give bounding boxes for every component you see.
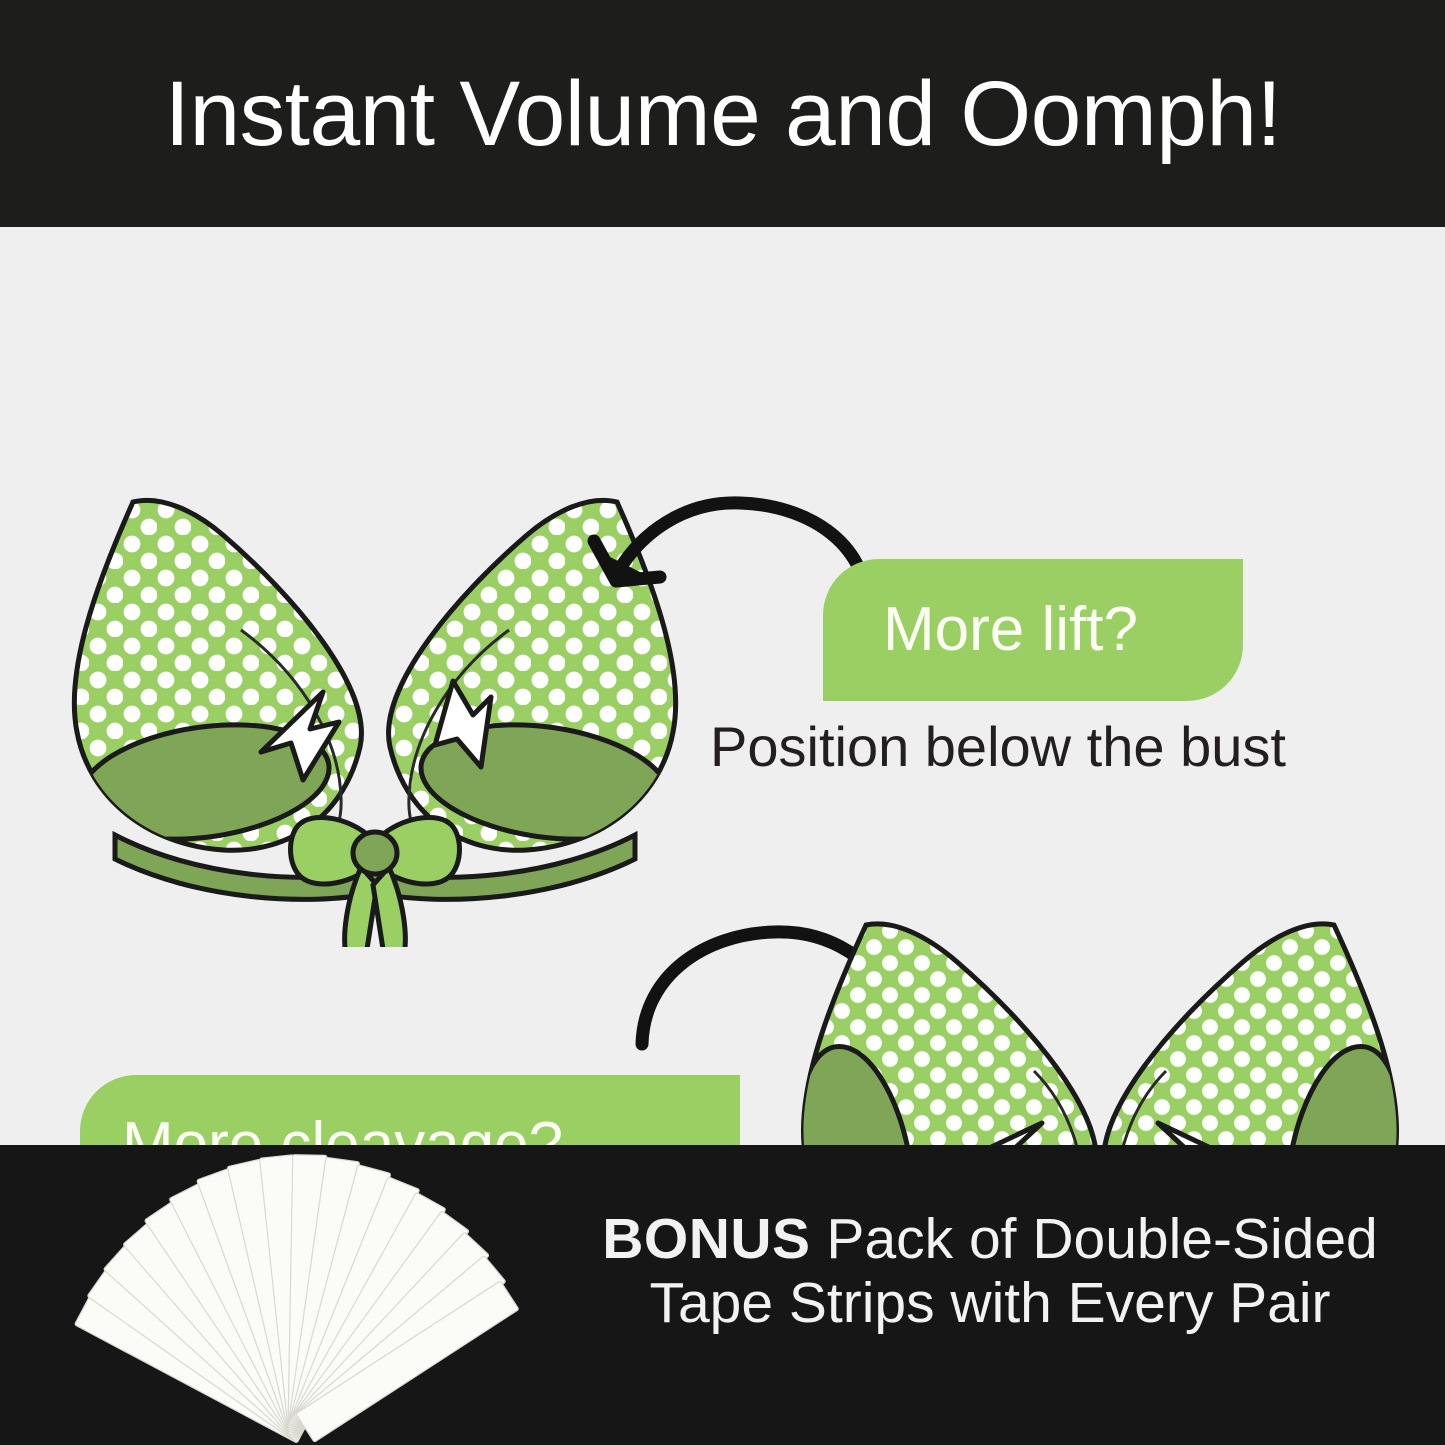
cursor-arrow-right [435, 681, 491, 767]
page-title: Instant Volume and Oomph! [164, 68, 1281, 160]
lift-pad-right [414, 710, 677, 854]
illustration-stage: More lift? Position below the bust More … [0, 227, 1445, 1145]
callout-more-lift-label: More lift? [883, 599, 1138, 661]
bra-cup-right [389, 500, 676, 850]
callout-more-lift[interactable]: More lift? [823, 559, 1243, 701]
bonus-caption-line-1: BONUS Pack of Double-Sided [560, 1208, 1420, 1272]
lift-pad-left [74, 710, 337, 854]
header-band: Instant Volume and Oomph! [0, 0, 1445, 227]
caption-position-below-the-bust: Position below the bust [710, 719, 1286, 775]
bra-band [115, 835, 635, 899]
bonus-line-1-rest: Pack of Double-Sided [811, 1207, 1378, 1271]
bra-illustration-lift [55, 467, 695, 947]
bra-cup-left [74, 500, 361, 850]
curved-arrow-to-cleavage-illustration [630, 912, 930, 1052]
bonus-caption-line-2: Tape Strips with Every Pair [560, 1272, 1420, 1336]
cursor-arrow-left [261, 692, 339, 780]
bonus-emphasis: BONUS [602, 1207, 810, 1271]
infographic-page: Instant Volume and Oomph! [0, 0, 1445, 1445]
bra-bow [291, 817, 460, 947]
bonus-caption: BONUS Pack of Double-Sided Tape Strips w… [560, 1208, 1420, 1336]
bust-contour-lines [241, 630, 509, 867]
